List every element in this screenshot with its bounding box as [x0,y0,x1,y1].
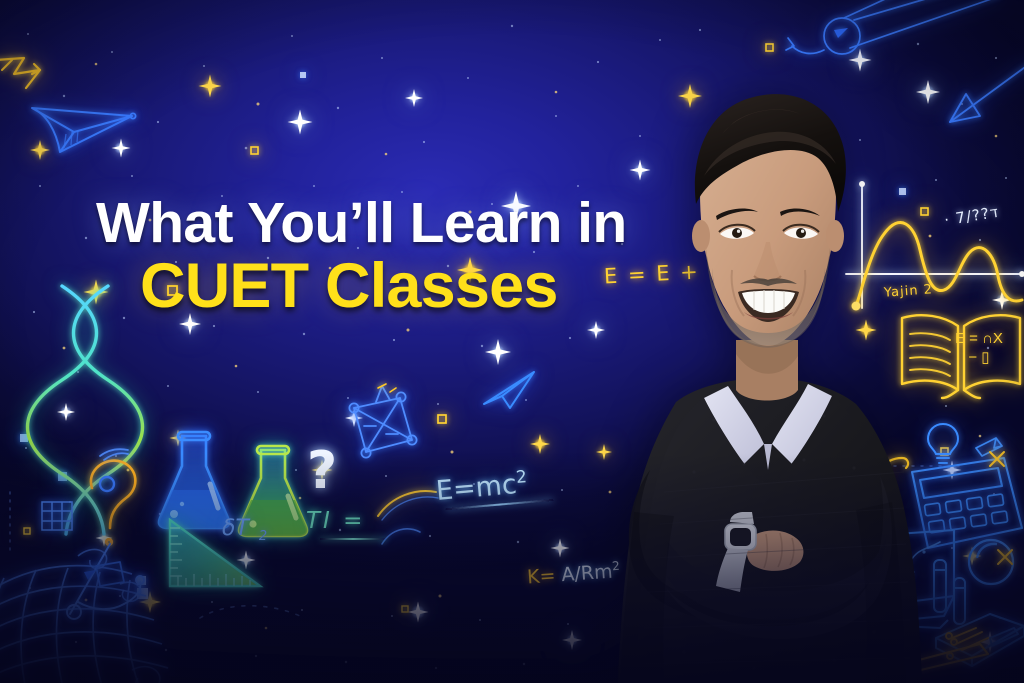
headline: What You’ll Learn in CUET Classes [96,196,636,318]
headline-line-2: CUET Classes [96,256,636,318]
paper-plane-large-icon [24,86,142,166]
bottom-fade-overlay [0,453,1024,683]
banner-stage: E = E + E=mc2 K= A/Rm2 δT2 TI = ? Yajin … [0,0,1024,683]
book-formula: E = ∩X − ▯ [955,330,1003,368]
book-formula-line1: E = ∩X [955,330,1003,349]
annotation-slash: · 7/??ד [943,203,1000,229]
book-formula-line2: − ▯ [955,349,1003,368]
lightning-arrow-icon [0,50,94,100]
headline-line-1: What You’ll Learn in [96,196,636,252]
paper-plane-small-icon [480,368,538,412]
comet-icon [794,0,1024,74]
arrow-down-left-icon [940,60,1024,140]
corner-accent-icon [0,54,30,84]
